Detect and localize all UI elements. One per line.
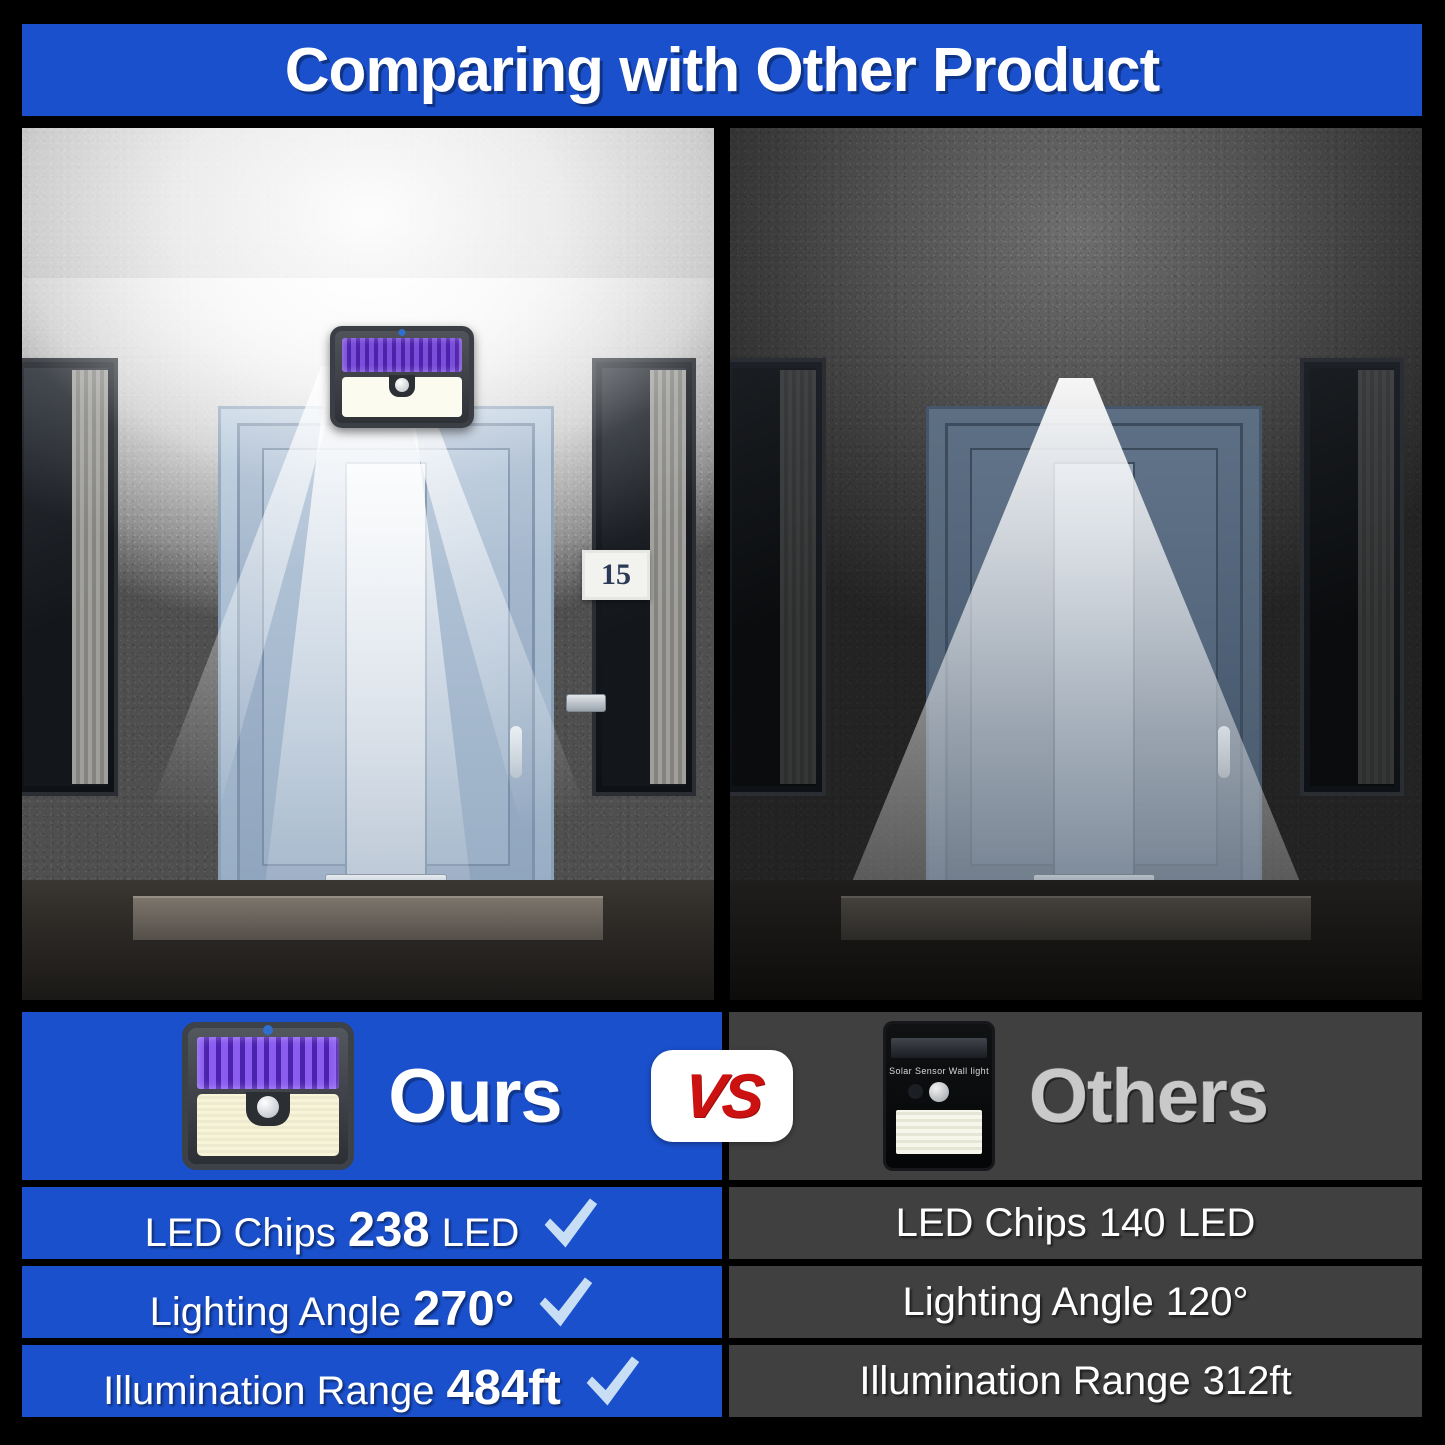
cell-others-lighting-angle: Lighting Angle 120° — [729, 1266, 1422, 1338]
others-product-thumbnail: Solar Sensor Wall light — [883, 1021, 995, 1171]
table-row-products: Ours Solar Sensor Wall light Others VS — [22, 1012, 1422, 1180]
vs-label: VS — [680, 1061, 764, 1132]
spec-value: 120° — [1166, 1280, 1249, 1325]
cell-ours-product: Ours — [22, 1012, 722, 1180]
photo-others: 15 — [730, 128, 1422, 1000]
window-curtain — [72, 370, 108, 784]
wall-fixture — [566, 694, 606, 712]
spec-unit: LED — [1178, 1201, 1256, 1246]
checkmark-icon — [583, 1352, 641, 1410]
spec-value: 312ft — [1203, 1359, 1292, 1404]
spec-value: 140 — [1099, 1201, 1166, 1246]
table-row-lighting-angle: Lighting Angle 270° Lighting Angle 120° — [22, 1266, 1422, 1338]
page-title: Comparing with Other Product — [285, 35, 1159, 106]
house-number-plate: 15 — [582, 550, 650, 600]
window-curtain — [650, 370, 686, 784]
others-product-text: Solar Sensor Wall light — [886, 1066, 992, 1076]
vs-badge: VS — [651, 1050, 793, 1142]
side-window-right — [1300, 358, 1404, 796]
comparison-table: Ours Solar Sensor Wall light Others VS — [22, 1012, 1422, 1422]
cell-others-product: Solar Sensor Wall light Others — [729, 1012, 1422, 1180]
table-row-led-chips: LED Chips 238 LED LED Chips 140 LED — [22, 1187, 1422, 1259]
spec-value: 238 — [348, 1202, 430, 1258]
others-label: Others — [1029, 1053, 1268, 1140]
solar-panel — [891, 1038, 987, 1058]
door-step — [841, 896, 1312, 940]
spec-ours-lighting-angle: Lighting Angle 270° — [150, 1267, 595, 1337]
motion-sensor-icon — [389, 375, 415, 397]
power-button-icon — [908, 1084, 923, 1099]
spec-label: LED Chips — [896, 1201, 1087, 1246]
ours-product-thumbnail — [182, 1022, 354, 1170]
spec-others-led-chips: LED Chips 140 LED — [896, 1201, 1256, 1246]
window-curtain — [780, 370, 816, 784]
solar-panel — [197, 1037, 339, 1089]
door-handle — [510, 726, 522, 778]
spec-value: 484ft — [446, 1360, 560, 1416]
spec-value: 270° — [413, 1281, 514, 1337]
spec-unit: LED — [442, 1211, 520, 1256]
door-step — [133, 896, 604, 940]
motion-sensor-icon — [246, 1092, 290, 1126]
door-glass — [345, 462, 427, 926]
cell-others-led-chips: LED Chips 140 LED — [729, 1187, 1422, 1259]
cell-ours-illumination-range: Illumination Range 484ft — [22, 1345, 722, 1417]
spec-label: LED Chips — [145, 1211, 336, 1256]
spec-others-illumination-range: Illumination Range 312ft — [859, 1359, 1291, 1404]
door-handle — [1218, 726, 1230, 778]
photo-ours: 15 — [22, 128, 714, 1000]
photo-comparison-strip: 15 — [22, 128, 1422, 1000]
spec-ours-illumination-range: Illumination Range 484ft — [103, 1346, 641, 1416]
spec-label: Lighting Angle — [902, 1280, 1153, 1325]
table-row-illumination-range: Illumination Range 484ft Illumination Ra… — [22, 1345, 1422, 1417]
led-panel — [896, 1110, 982, 1154]
window-curtain — [1358, 370, 1394, 784]
motion-sensor-icon — [929, 1082, 949, 1102]
spec-label: Illumination Range — [103, 1369, 434, 1414]
spec-ours-led-chips: LED Chips 238 LED — [145, 1188, 600, 1258]
lamp-indicator-dot — [399, 329, 406, 336]
side-window-left — [730, 358, 826, 796]
door-glass — [1053, 462, 1135, 926]
spec-label: Lighting Angle — [150, 1290, 401, 1335]
cell-others-illumination-range: Illumination Range 312ft — [729, 1345, 1422, 1417]
cell-ours-led-chips: LED Chips 238 LED — [22, 1187, 722, 1259]
ours-label: Ours — [388, 1053, 561, 1140]
checkmark-icon — [541, 1194, 599, 1252]
solar-panel — [342, 338, 462, 372]
lamp-indicator-dot — [263, 1025, 273, 1035]
infographic-root: Comparing with Other Product — [0, 0, 1445, 1445]
ours-wall-light-mounted — [330, 326, 474, 428]
house-number: 15 — [601, 560, 631, 590]
spec-label: Illumination Range — [859, 1359, 1190, 1404]
side-window-left — [22, 358, 118, 796]
spec-others-lighting-angle: Lighting Angle 120° — [902, 1280, 1248, 1325]
cell-ours-lighting-angle: Lighting Angle 270° — [22, 1266, 722, 1338]
header-banner: Comparing with Other Product — [22, 24, 1422, 116]
checkmark-icon — [536, 1273, 594, 1331]
